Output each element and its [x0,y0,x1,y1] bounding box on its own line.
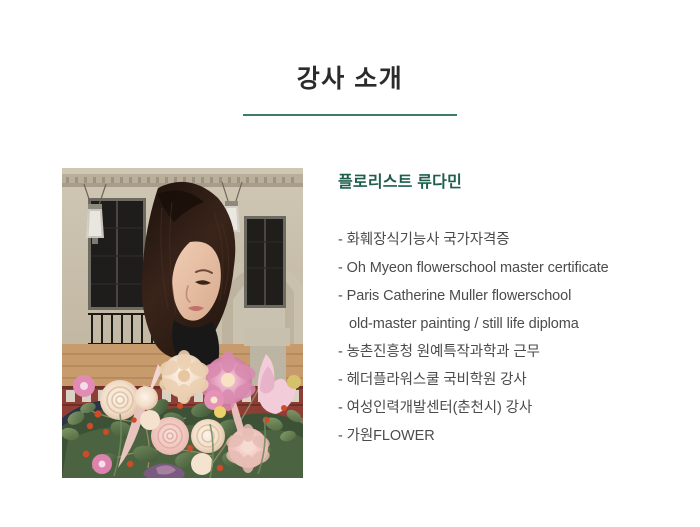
title-divider [243,114,457,116]
credential-item: - 농촌진흥청 원예특작과학과 근무 [338,338,678,366]
page-title: 강사 소개 [0,62,700,96]
instructor-intro-page: 강사 소개 [0,0,700,527]
credential-item: - 화훼장식기능사 국가자격증 [338,226,678,254]
instructor-details: 플로리스트 류다민 - 화훼장식기능사 국가자격증 - Oh Myeon flo… [338,172,678,450]
instructor-name-heading: 플로리스트 류다민 [338,172,678,194]
credential-item: - Oh Myeon flowerschool master certifica… [338,254,678,282]
credential-item: - 가원FLOWER [338,422,678,450]
woman-with-bouquet-image [62,168,303,478]
header: 강사 소개 [0,62,700,116]
credential-item: - Paris Catherine Muller flowerschool [338,282,678,310]
credentials-list: - 화훼장식기능사 국가자격증 - Oh Myeon flowerschool … [338,226,678,450]
instructor-photo [62,168,303,478]
credential-item: - 여성인력개발센터(춘천시) 강사 [338,394,678,422]
credential-item-continuation: old-master painting / still life diploma [338,310,678,338]
credential-item: - 헤더플라워스쿨 국비학원 강사 [338,366,678,394]
